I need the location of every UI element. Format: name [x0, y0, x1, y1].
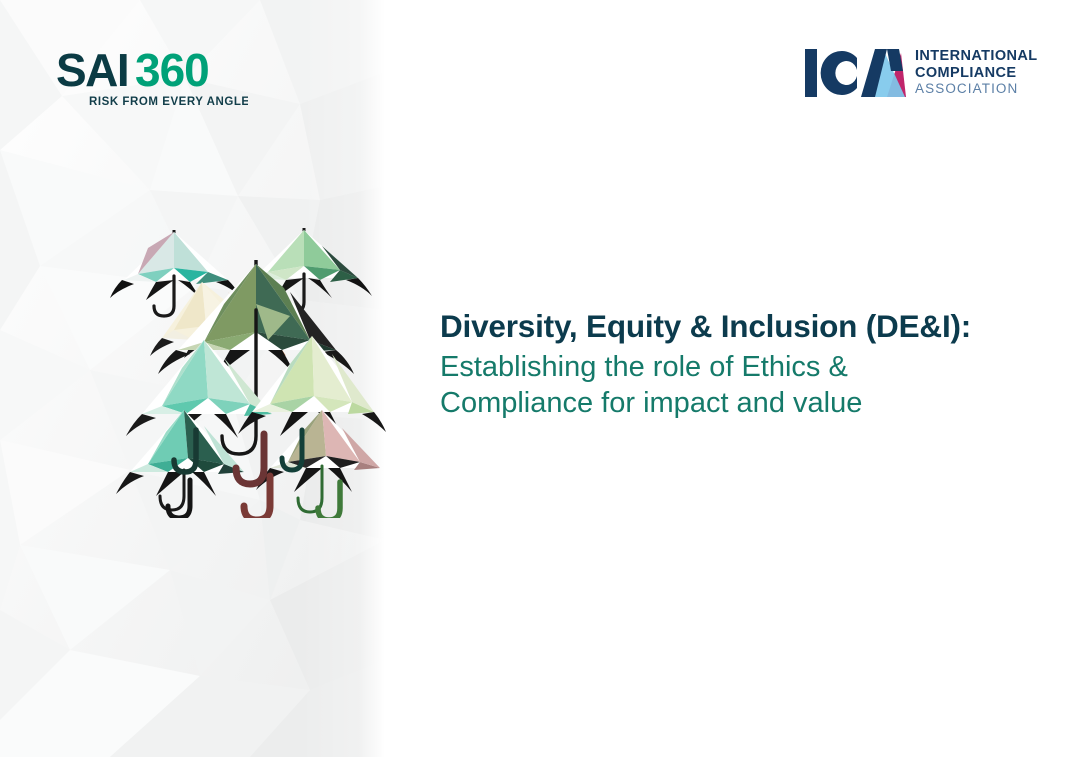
ica-logo: INTERNATIONAL COMPLIANCE ASSOCIATION	[805, 43, 1037, 99]
handle-black	[168, 480, 190, 518]
ica-wordmark-line3: ASSOCIATION	[915, 81, 1018, 96]
ica-monogram	[805, 49, 906, 97]
sai360-wordmark-secondary: 360	[135, 44, 209, 96]
ica-wordmark-line2: COMPLIANCE	[915, 65, 1016, 81]
sai360-logo: SAI 360 RISK FROM EVERY ANGLE	[56, 42, 248, 110]
umbrella-mid-green-right	[238, 336, 386, 436]
page-subtitle-line-2: Compliance for impact and value	[440, 386, 910, 421]
title-slide: SAI 360 RISK FROM EVERY ANGLE	[0, 0, 1078, 757]
page-title: Diversity, Equity & Inclusion (DE&I):	[440, 306, 1040, 346]
page-subtitle-line-1: Establishing the role of Ethics &	[440, 350, 910, 385]
ica-wordmark-line1: INTERNATIONAL	[915, 48, 1037, 64]
sai360-tagline: RISK FROM EVERY ANGLE	[89, 96, 248, 108]
umbrella-bottom-right	[256, 410, 380, 512]
sai360-wordmark-primary: SAI	[56, 44, 128, 96]
handle-maroon-upper	[236, 434, 264, 484]
title-block: Diversity, Equity & Inclusion (DE&I): Es…	[440, 306, 1040, 421]
umbrella-illustration	[104, 218, 404, 518]
page-subtitle: Establishing the role of Ethics & Compli…	[440, 350, 910, 421]
